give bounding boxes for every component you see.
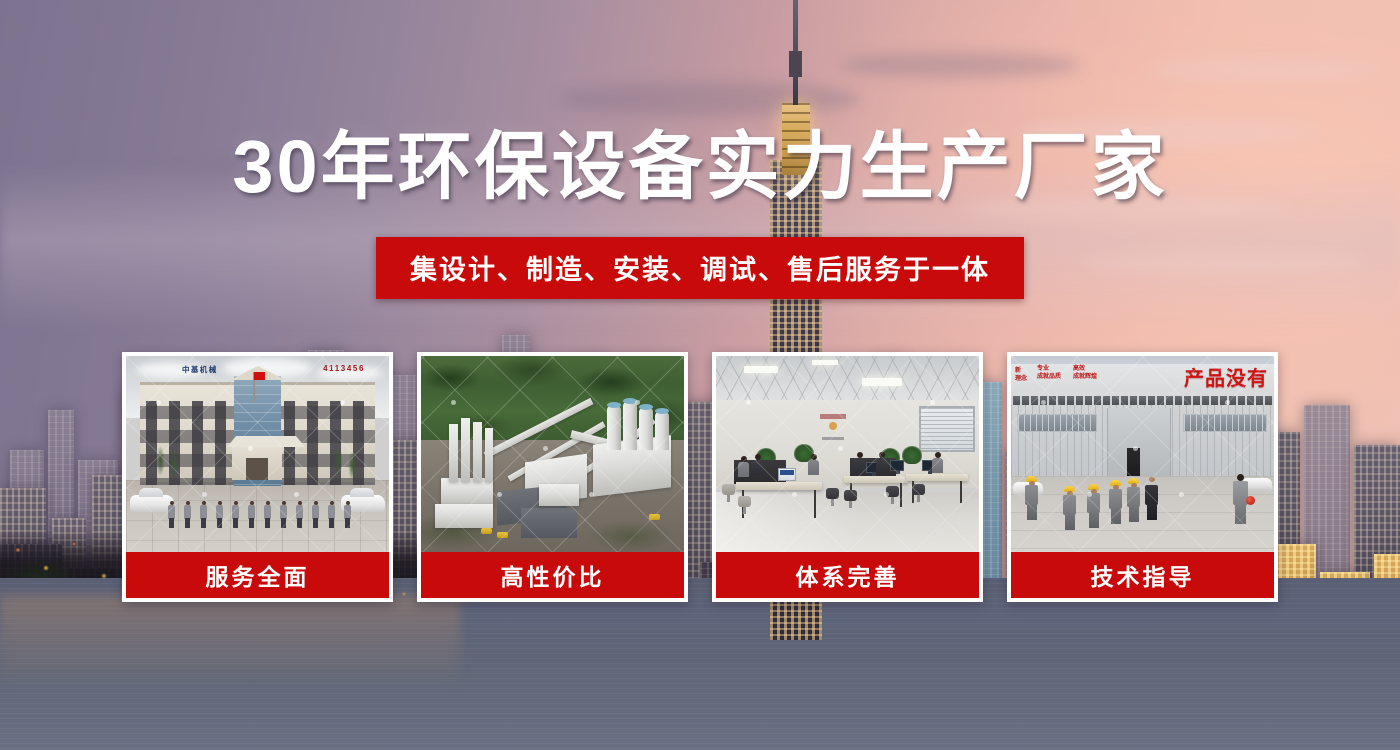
feature-card[interactable]: 中基机械 4113456 [122,352,393,602]
card-caption: 服务全面 [126,552,389,598]
feature-card[interactable]: 体系完善 [712,352,983,602]
card-photo-plant-aerial [421,356,684,552]
card-caption: 技术指导 [1011,552,1274,598]
card-photo-building: 中基机械 4113456 [126,356,389,552]
subtitle-banner: 集设计、制造、安装、调试、售后服务于一体 [376,237,1024,299]
building-phone-text: 4113456 [323,364,365,373]
feature-card-row: 中基机械 4113456 [122,352,1278,602]
river-reflection [0,595,460,690]
building-sign-text: 中基机械 [182,364,218,375]
card-caption: 高性价比 [421,552,684,598]
feature-card[interactable]: 高性价比 [417,352,688,602]
card-photo-factory-yard: 产品没有 新理念 专业成就品质 高效成就辉煌 [1011,356,1274,552]
card-photo-office [716,356,979,552]
factory-sign-text: 产品没有 [1184,362,1268,391]
page-title: 30年环保设备实力生产厂家 [0,130,1400,204]
promo-banner: 30年环保设备实力生产厂家 集设计、制造、安装、调试、售后服务于一体 中基机械 … [0,0,1400,750]
tower-spire [793,0,798,105]
card-caption: 体系完善 [716,552,979,598]
subtitle-container: 集设计、制造、安装、调试、售后服务于一体 [0,237,1400,299]
feature-card[interactable]: 产品没有 新理念 专业成就品质 高效成就辉煌 [1007,352,1278,602]
